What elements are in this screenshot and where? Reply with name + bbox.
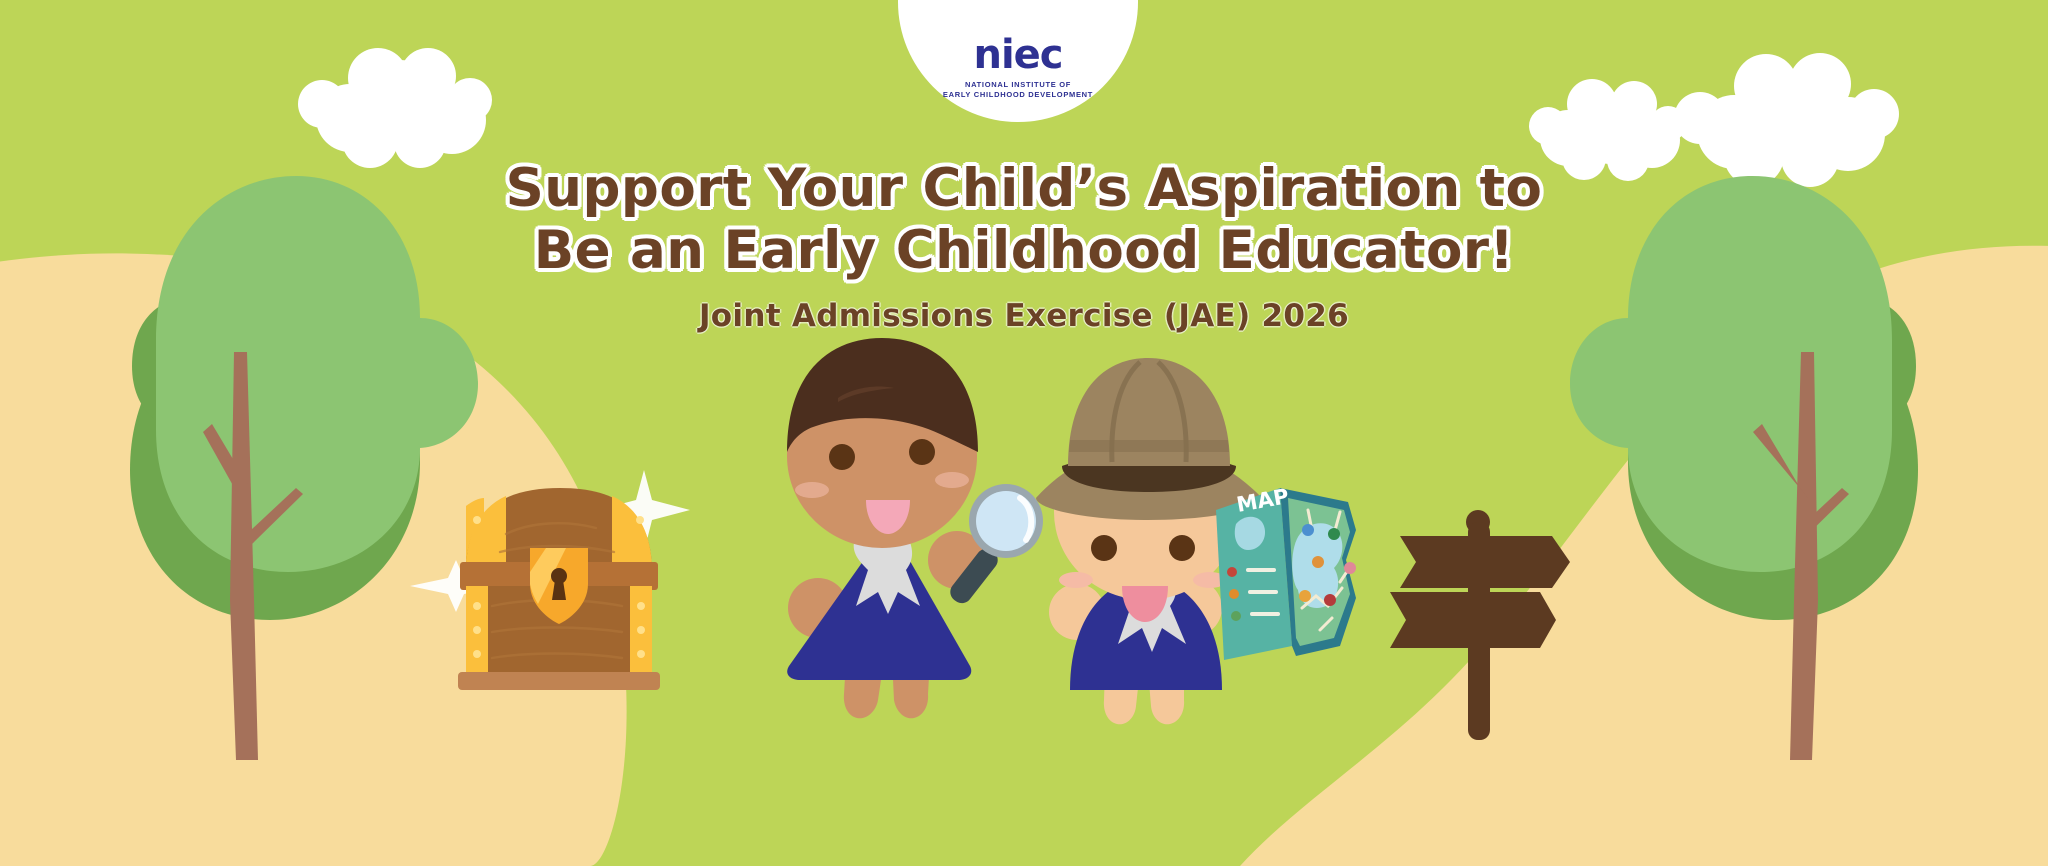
headline-block: Support Your Child’s Aspiration to Be an… bbox=[0, 158, 2048, 334]
niec-logo-tagline-line2: EARLY CHILDHOOD DEVELOPMENT bbox=[943, 90, 1093, 100]
niec-jae-banner: niec NATIONAL INSTITUTE OF EARLY CHILDHO… bbox=[0, 0, 2048, 866]
subheadline: Joint Admissions Exercise (JAE) 2026 bbox=[0, 298, 2048, 334]
headline-line-2: Be an Early Childhood Educator! bbox=[0, 220, 2048, 282]
background-scenery bbox=[0, 0, 2048, 866]
headline-line-1: Support Your Child’s Aspiration to bbox=[0, 158, 2048, 220]
niec-logo-wordmark: niec bbox=[973, 35, 1062, 75]
niec-logo-tagline-line1: NATIONAL INSTITUTE OF bbox=[965, 80, 1071, 90]
